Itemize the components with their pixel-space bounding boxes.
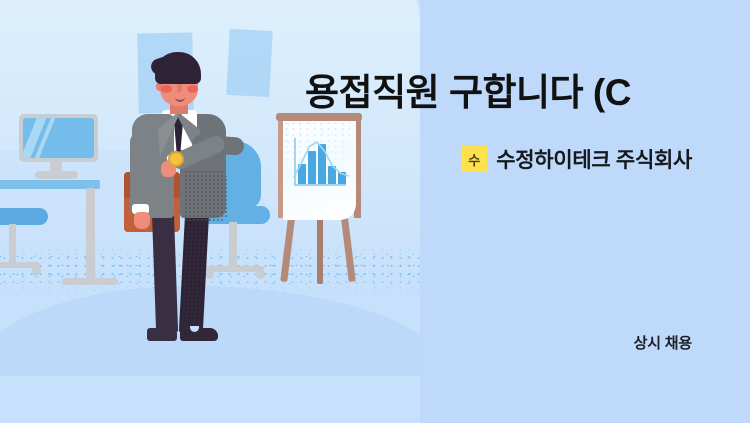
shoe-right (180, 328, 218, 341)
desk-leg (86, 188, 95, 284)
trouser-leg-left (152, 212, 178, 332)
shoe-left (147, 328, 177, 341)
desk-foot (62, 278, 118, 285)
monitor-stand-base (35, 171, 78, 179)
office-chair-left-post (9, 224, 16, 266)
hand-left (134, 212, 150, 229)
cheek-blush (187, 85, 198, 93)
jacket-texture (184, 170, 228, 222)
businessman-figure (118, 52, 248, 362)
company-row: 수 수정하이테크 주식회사 (461, 144, 692, 174)
chart-x-axis (294, 184, 346, 186)
office-chair-left-seat (0, 208, 48, 225)
wristwatch-icon (168, 151, 184, 167)
easel-leg-rear (317, 218, 323, 284)
status-badge: 상시 채용 (634, 332, 692, 353)
page-title: 용접직원 구합니다 (C (305, 72, 725, 115)
nose (177, 84, 182, 93)
illustration-panel (0, 0, 420, 423)
company-name: 수정하이테크 주식회사 (496, 144, 692, 174)
flipchart-chart (283, 120, 356, 220)
cheek-blush (161, 85, 172, 93)
company-badge-icon: 수 (461, 146, 487, 172)
chair-wheel-icon (256, 270, 265, 279)
monitor-screen (23, 118, 94, 158)
chair-wheel-icon (32, 266, 41, 275)
desk-surface (0, 180, 100, 189)
arm-left (130, 132, 150, 214)
trouser-texture (179, 212, 209, 322)
chart-bell-curve (293, 134, 349, 184)
job-posting-poster: 용접직원 구합니다 (C 수 수정하이테크 주식회사 상시 채용 (0, 0, 750, 423)
